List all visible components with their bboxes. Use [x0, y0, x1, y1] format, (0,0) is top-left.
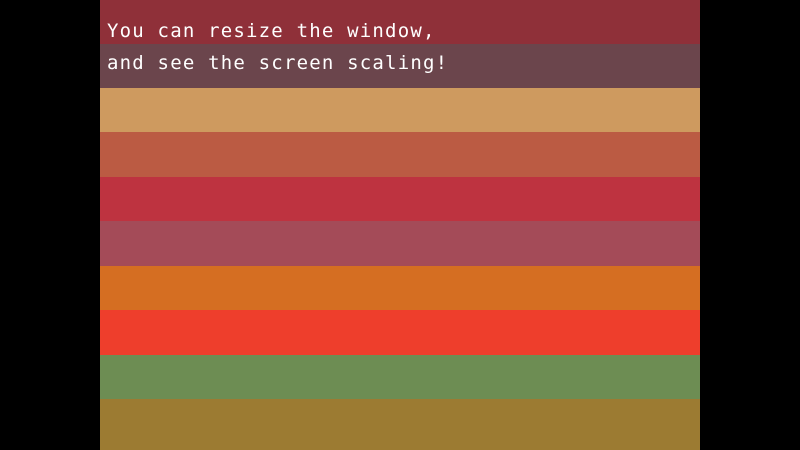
- band-orange: [100, 266, 700, 311]
- letterbox-left-bar: [0, 0, 100, 450]
- app-window: You can resize the window, and see the s…: [0, 0, 800, 450]
- band-mauve-plum: [100, 44, 700, 88]
- band-tan: [100, 88, 700, 133]
- band-brick: [100, 132, 700, 177]
- band-red: [100, 310, 700, 355]
- letterbox-right-bar: [700, 0, 800, 450]
- band-green: [100, 355, 700, 400]
- band-olive: [100, 399, 700, 450]
- band-crimson: [100, 177, 700, 222]
- scaled-viewport: [100, 0, 700, 450]
- band-dark-crimson: [100, 0, 700, 44]
- band-rose: [100, 221, 700, 266]
